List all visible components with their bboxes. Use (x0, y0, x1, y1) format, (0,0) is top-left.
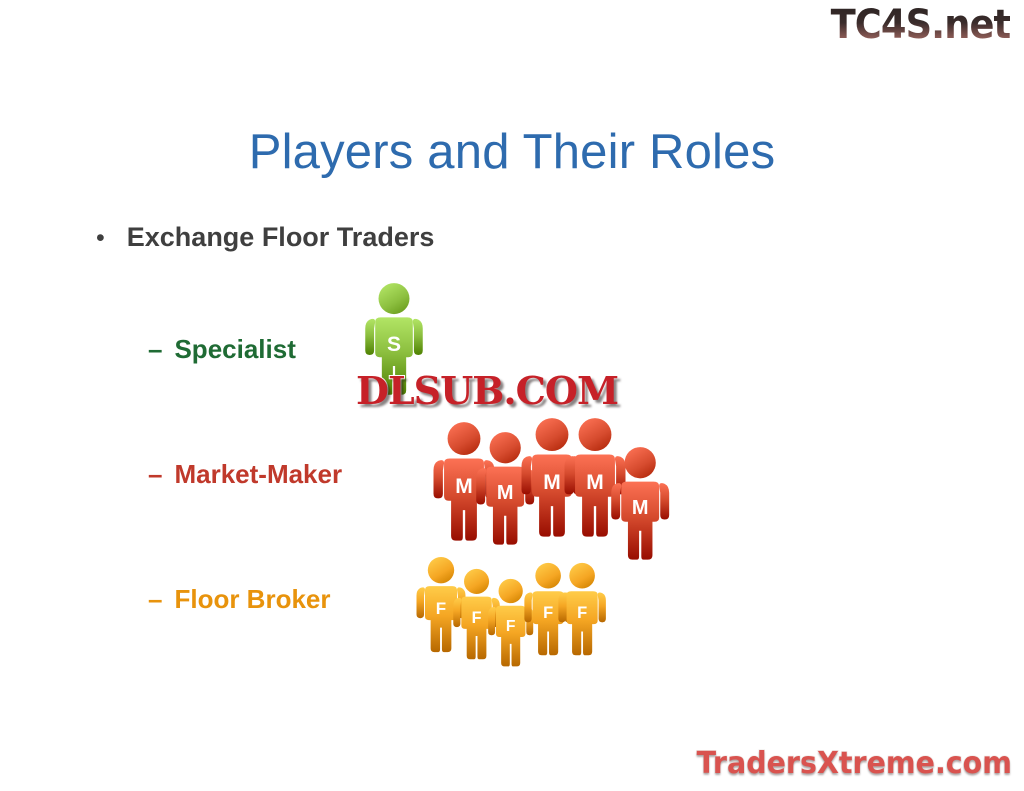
sub-bullet-specialist: – Specialist (148, 334, 296, 365)
floor-broker-figure-group: F F (412, 556, 602, 664)
sub-bullet-market-maker: – Market-Maker (148, 459, 342, 490)
sub-bullet-label: Market-Maker (174, 459, 342, 490)
page-title: Players and Their Roles (0, 124, 1024, 180)
bullet-exchange-floor-traders: • Exchange Floor Traders (96, 222, 434, 253)
tc4s-watermark: TC4S.net (830, 2, 1010, 48)
slide-canvas: TC4S.net Players and Their Roles • Excha… (0, 0, 1024, 791)
person-icon: F (554, 562, 610, 657)
bullet-label: Exchange Floor Traders (127, 222, 435, 253)
dash-marker-icon: – (148, 334, 162, 365)
market-maker-figure-group: M M (428, 417, 678, 552)
dash-marker-icon: – (148, 584, 162, 615)
person-icon: M (606, 446, 674, 562)
sub-bullet-floor-broker: – Floor Broker (148, 584, 331, 615)
bullet-marker-icon: • (96, 226, 105, 251)
tradersxtreme-watermark: TradersXtreme.com (697, 746, 1012, 781)
sub-bullet-label: Specialist (174, 334, 295, 365)
dlsub-watermark: DLSUB.COM (356, 368, 618, 413)
sub-bullet-label: Floor Broker (174, 584, 330, 615)
dash-marker-icon: – (148, 459, 162, 490)
